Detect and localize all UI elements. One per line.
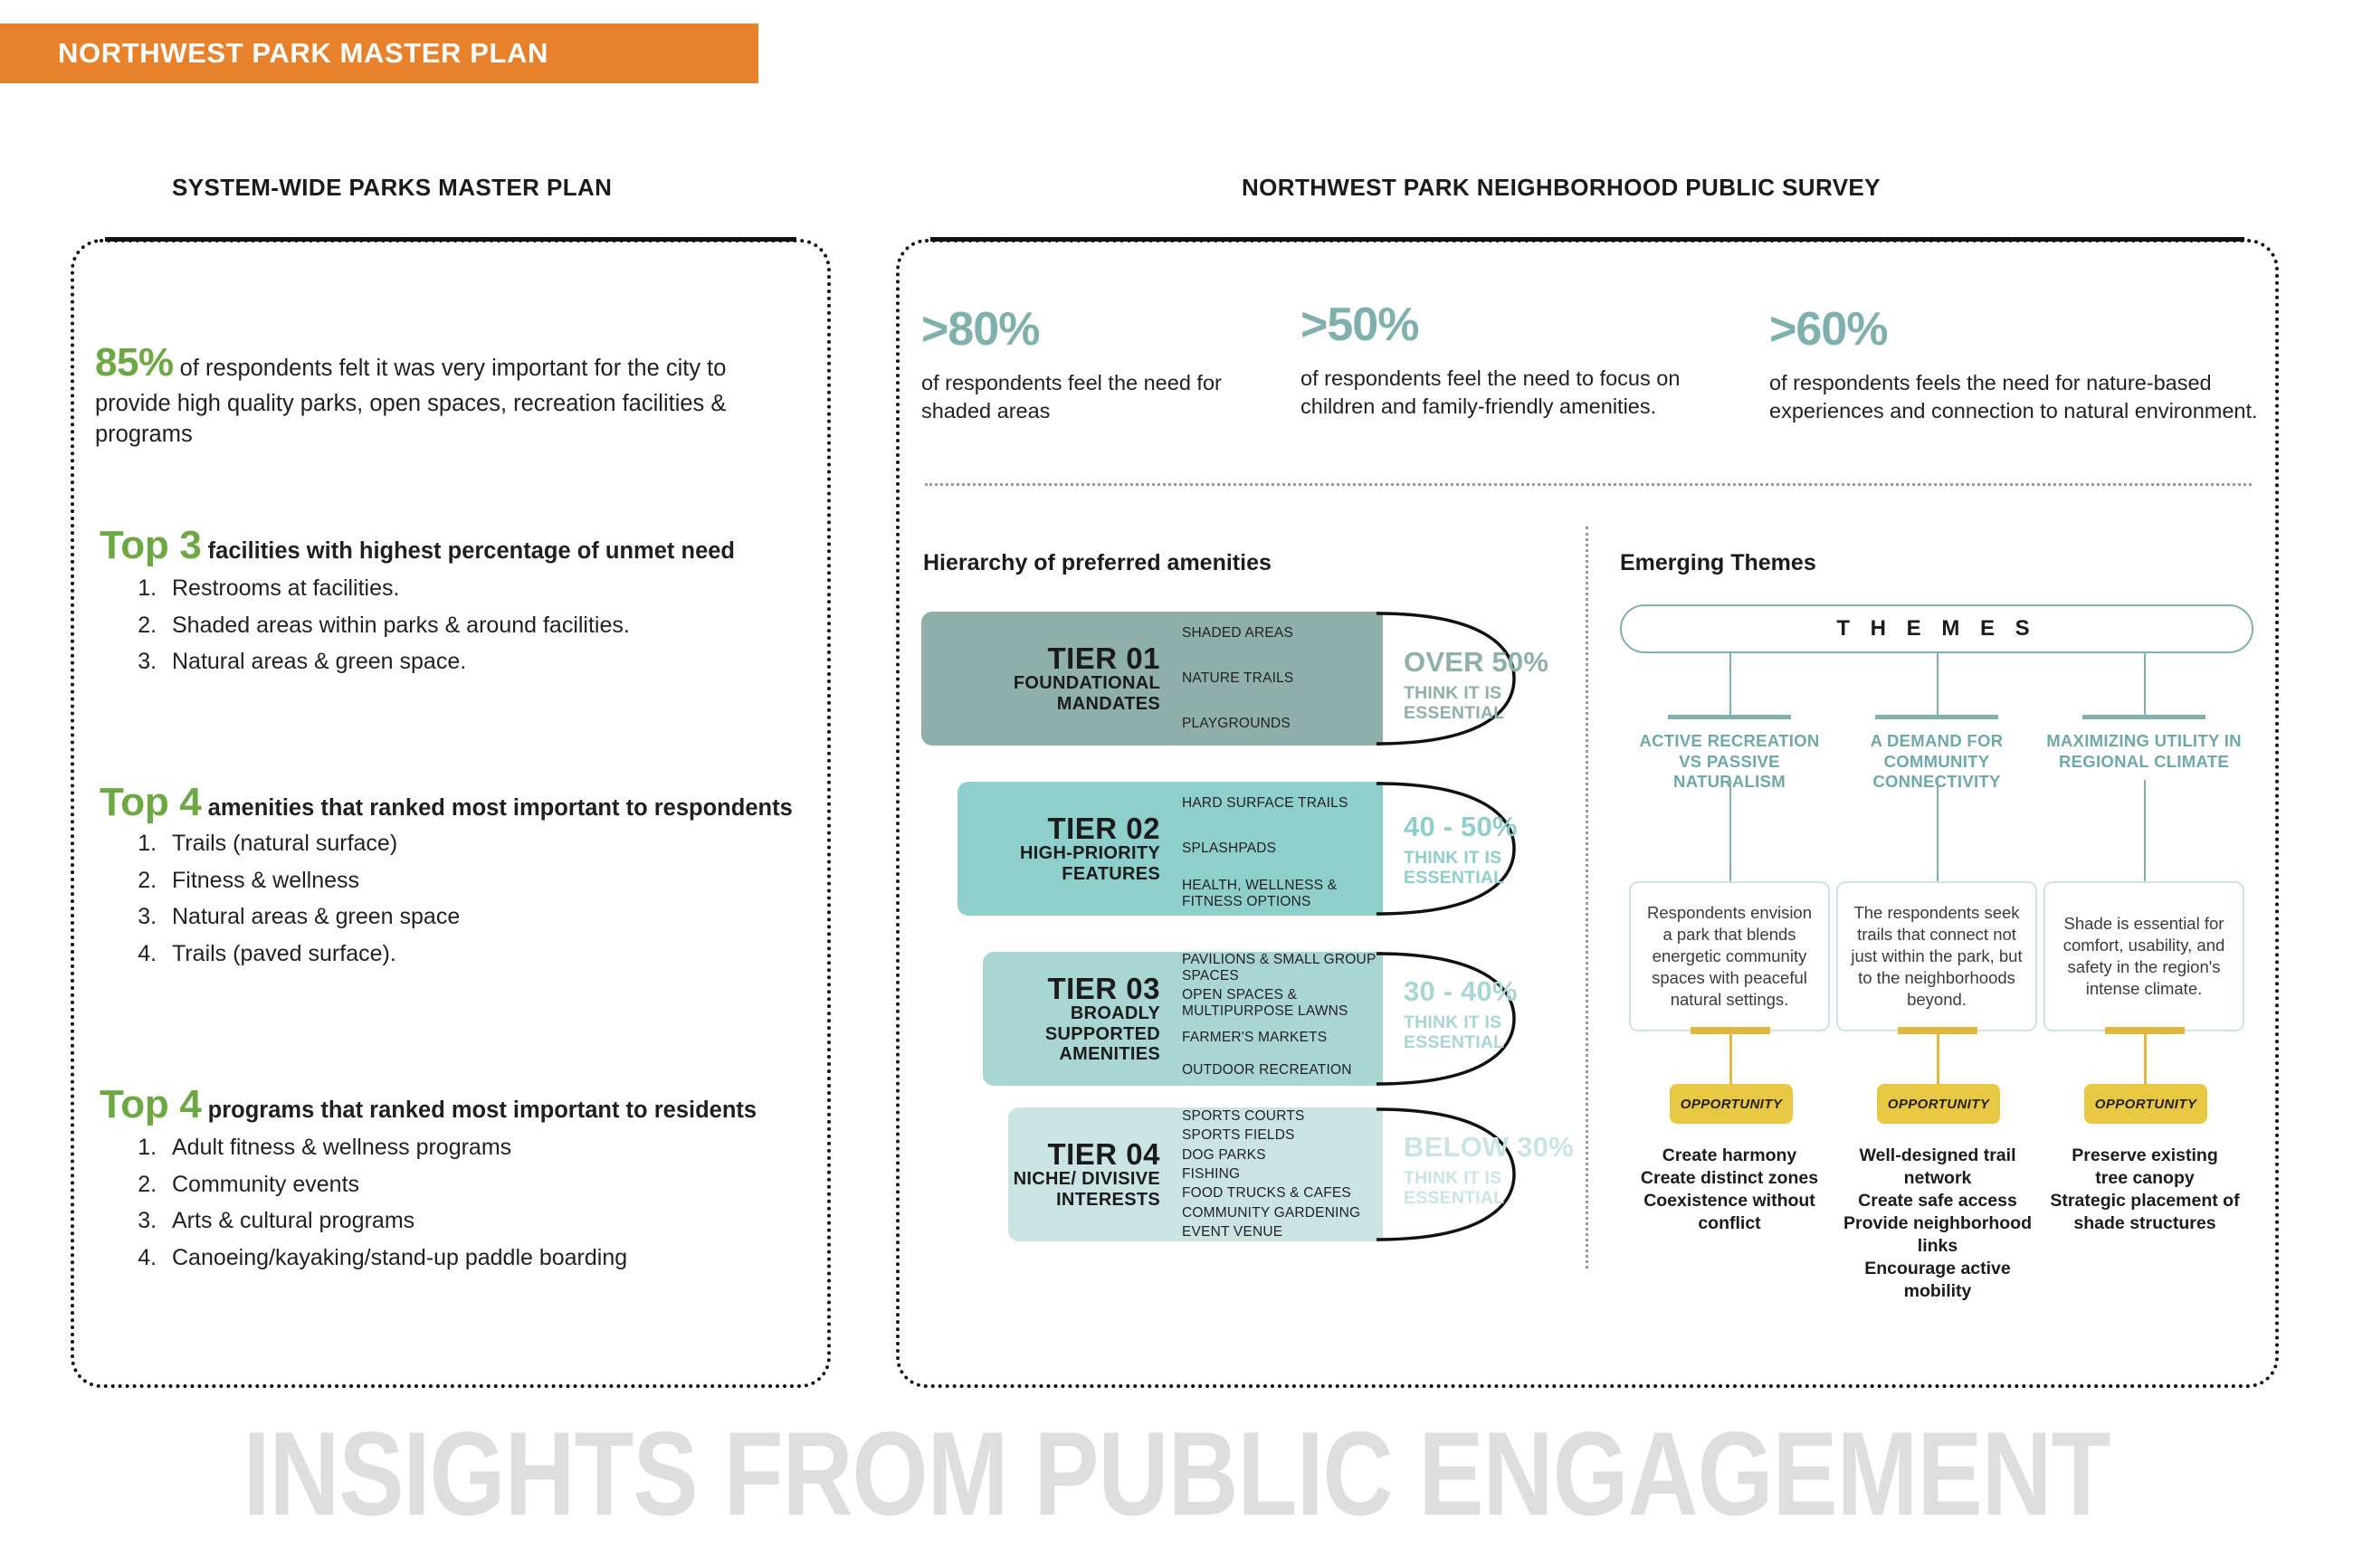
opportunity-badge-2: OPPORTUNITY [2084, 1084, 2207, 1124]
callout-note: THINK IT IS ESSENTIAL [1404, 849, 1548, 889]
amenity-row: EVENT VENUE [1173, 1224, 1383, 1241]
list-item: Natural areas & green space [163, 898, 796, 936]
callout-note: THINK IT IS ESSENTIAL [1404, 684, 1548, 724]
list-item: Community events [163, 1166, 796, 1203]
amenity-row: FISHING [1173, 1165, 1383, 1183]
tier-callout-0: OVER 50% THINK IT IS ESSENTIAL [1404, 648, 1548, 724]
tier-row-0: TIER 01 FOUNDATIONAL MANDATES SHADED ARE… [921, 612, 1383, 746]
opportunity-bullets-1: Well-designed trail network Create safe … [1833, 1145, 2043, 1303]
left-block-list-2: Adult fitness & wellness programs Commun… [100, 1129, 796, 1276]
callout-note: THINK IT IS ESSENTIAL [1404, 1169, 1548, 1209]
hierarchy-heading: Hierarchy of preferred amenities [923, 550, 1272, 576]
stat-percent: >60% [1769, 306, 2258, 353]
opportunity-connector [1937, 1034, 1939, 1088]
stat-percent: >80% [921, 306, 1265, 353]
list-item: Shaded areas within parks & around facil… [163, 607, 796, 644]
tier-callout-3: BELOW 30% THINK IT IS ESSENTIAL [1404, 1133, 1574, 1209]
opportunity-cap [2105, 1027, 2185, 1034]
left-block-heading-1: Top 4 amenities that ranked most importa… [100, 780, 793, 825]
list-item: Trails (paved surface). [163, 936, 796, 973]
theme-cap [2082, 715, 2205, 719]
opportunity-label: OPPORTUNITY [1681, 1097, 1782, 1112]
list-item: Natural areas & green space. [163, 643, 796, 680]
left-block-heading-0: Top 3 facilities with highest percentage… [100, 523, 735, 568]
amenity-row: HEALTH, WELLNESS & FITNESS OPTIONS [1173, 873, 1383, 916]
tier-subtitle: BROADLY SUPPORTED AMENITIES [983, 1003, 1160, 1064]
opportunity-connector [1729, 1034, 1732, 1088]
tier-callout-1: 40 - 50% THINK IT IS ESSENTIAL [1404, 813, 1548, 889]
theme-cap [1668, 715, 1791, 719]
stat-text: of respondents feel the need for shaded … [921, 369, 1265, 426]
survey-stat-2: >60% of respondents feels the need for n… [1769, 306, 2258, 426]
left-column-title: SYSTEM-WIDE PARKS MASTER PLAN [172, 174, 612, 202]
tier-subtitle: FOUNDATIONAL MANDATES [921, 673, 1160, 714]
themes-root: T H E M E S [1620, 604, 2253, 653]
rank-caption: amenities that ranked most important to … [208, 795, 793, 821]
callout-percent: OVER 50% [1404, 648, 1548, 676]
themes-root-label: T H E M E S [1836, 616, 2036, 641]
list-item: Arts & cultural programs [163, 1202, 796, 1240]
theme-card-0: Respondents envision a park that blends … [1629, 881, 1830, 1031]
footer-wordmark: INSIGHTS FROM PUBLIC ENGAGEMENT [0, 1404, 2353, 1543]
opportunity-cap [1898, 1027, 1977, 1034]
theme-card-2: Shade is essential for comfort, usabilit… [2043, 881, 2244, 1031]
opportunity-label: OPPORTUNITY [2095, 1097, 2196, 1112]
survey-stat-0: >80% of respondents feel the need for sh… [921, 306, 1265, 426]
left-headline-text: of respondents felt it was very importan… [95, 356, 726, 447]
left-headline-percent: 85% [95, 340, 174, 385]
theme-connector [1729, 653, 1731, 718]
theme-connector [2144, 653, 2146, 718]
stat-text: of respondents feel the need to focus on… [1300, 365, 1735, 422]
amenity-row: NATURE TRAILS [1173, 657, 1383, 699]
left-headline-stat: 85% of respondents felt it was very impo… [95, 337, 756, 450]
theme-cap [1875, 715, 1998, 719]
left-block-list-1: Trails (natural surface) Fitness & welln… [100, 825, 796, 972]
tier-number: TIER 01 [1047, 643, 1160, 674]
left-block-list-0: Restrooms at facilities. Shaded areas wi… [100, 570, 796, 680]
tier-row-3: TIER 04 NICHE/ DIVISIVE INTERESTS SPORTS… [1008, 1107, 1383, 1241]
amenity-row: COMMUNITY GARDENING [1173, 1204, 1383, 1221]
amenity-row: FOOD TRUCKS & CAFES [1173, 1185, 1383, 1202]
list-item: Fitness & wellness [163, 862, 796, 899]
opportunity-badge-0: OPPORTUNITY [1670, 1084, 1793, 1124]
tier-row-2: TIER 03 BROADLY SUPPORTED AMENITIES PAVI… [983, 952, 1383, 1086]
tier-number: TIER 02 [1047, 813, 1160, 844]
tier-amenities: HARD SURFACE TRAILS SPLASHPADS HEALTH, W… [1173, 782, 1383, 916]
rank-caption: programs that ranked most important to r… [208, 1098, 757, 1123]
amenity-row: OPEN SPACES & MULTIPURPOSE LAWNS [1173, 987, 1383, 1020]
amenity-row: FARMER'S MARKETS [1173, 1022, 1383, 1053]
rank-label: Top 3 [100, 523, 202, 567]
tier-label: TIER 02 HIGH-PRIORITY FEATURES [957, 782, 1173, 916]
amenity-row: DOG PARKS [1173, 1146, 1383, 1164]
amenity-row: SPORTS FIELDS [1173, 1126, 1383, 1144]
stat-percent: >50% [1300, 301, 1735, 348]
right-column-title: NORTHWEST PARK NEIGHBORHOOD PUBLIC SURVE… [1242, 174, 1881, 202]
themes-heading: Emerging Themes [1620, 550, 1816, 576]
amenity-row: SPORTS COURTS [1173, 1107, 1383, 1125]
tier-subtitle: NICHE/ DIVISIVE INTERESTS [1008, 1169, 1160, 1210]
list-item: Adult fitness & wellness programs [163, 1129, 796, 1166]
tier-callout-2: 30 - 40% THINK IT IS ESSENTIAL [1404, 977, 1548, 1053]
theme-connector [1937, 780, 1939, 881]
vertical-divider [1586, 527, 1588, 1269]
amenity-row: HARD SURFACE TRAILS [1173, 782, 1383, 824]
tier-number: TIER 03 [1047, 974, 1160, 1004]
theme-card-1: The respondents seek trails that connect… [1836, 881, 2037, 1031]
left-block-heading-2: Top 4 programs that ranked most importan… [100, 1082, 757, 1127]
tier-label: TIER 01 FOUNDATIONAL MANDATES [921, 612, 1173, 746]
tier-label: TIER 03 BROADLY SUPPORTED AMENITIES [983, 952, 1173, 1086]
horizontal-divider [925, 483, 2252, 486]
list-item: Trails (natural surface) [163, 825, 796, 862]
tier-subtitle: HIGH-PRIORITY FEATURES [957, 843, 1160, 884]
amenity-row: OUTDOOR RECREATION [1173, 1056, 1383, 1087]
rank-label: Top 4 [100, 1082, 202, 1126]
tier-row-1: TIER 02 HIGH-PRIORITY FEATURES HARD SURF… [957, 782, 1383, 916]
panel-top-edge [105, 237, 796, 242]
theme-name-2: MAXIMIZING UTILITY IN REGIONAL CLIMATE [2043, 731, 2244, 772]
tier-label: TIER 04 NICHE/ DIVISIVE INTERESTS [1008, 1107, 1173, 1241]
theme-connector [2144, 780, 2146, 881]
amenity-row: SHADED AREAS [1173, 612, 1383, 654]
amenity-row: SPLASHPADS [1173, 827, 1383, 870]
tier-amenities: PAVILIONS & SMALL GROUP SPACES OPEN SPAC… [1173, 952, 1383, 1086]
tier-amenities: SHADED AREAS NATURE TRAILS PLAYGROUNDS [1173, 612, 1383, 746]
opportunity-bullets-2: Preserve existing tree canopy Strategic … [2042, 1145, 2248, 1235]
list-item: Canoeing/kayaking/stand-up paddle boardi… [163, 1240, 796, 1277]
header-banner: NORTHWEST PARK MASTER PLAN [0, 24, 758, 83]
theme-connector [1937, 653, 1939, 718]
tier-number: TIER 04 [1047, 1139, 1160, 1170]
header-title: NORTHWEST PARK MASTER PLAN [58, 37, 548, 70]
opportunity-connector [2144, 1034, 2147, 1088]
callout-percent: 40 - 50% [1404, 813, 1548, 841]
callout-percent: BELOW 30% [1404, 1133, 1574, 1161]
tier-amenities: SPORTS COURTS SPORTS FIELDS DOG PARKS FI… [1173, 1107, 1383, 1241]
rank-label: Top 4 [100, 780, 202, 824]
survey-stat-1: >50% of respondents feel the need to foc… [1300, 301, 1735, 422]
callout-percent: 30 - 40% [1404, 977, 1548, 1005]
panel-top-edge [930, 237, 2244, 242]
opportunity-cap [1691, 1027, 1770, 1034]
opportunity-label: OPPORTUNITY [1888, 1097, 1989, 1112]
opportunity-bullets-0: Create harmony Create distinct zones Coe… [1629, 1145, 1830, 1235]
callout-note: THINK IT IS ESSENTIAL [1404, 1013, 1548, 1053]
theme-connector [1729, 780, 1731, 881]
stat-text: of respondents feels the need for nature… [1769, 369, 2258, 426]
list-item: Restrooms at facilities. [163, 570, 796, 607]
amenity-row: PLAYGROUNDS [1173, 703, 1383, 746]
opportunity-badge-1: OPPORTUNITY [1877, 1084, 2000, 1124]
amenity-row: PAVILIONS & SMALL GROUP SPACES [1173, 952, 1383, 984]
rank-caption: facilities with highest percentage of un… [208, 538, 735, 564]
